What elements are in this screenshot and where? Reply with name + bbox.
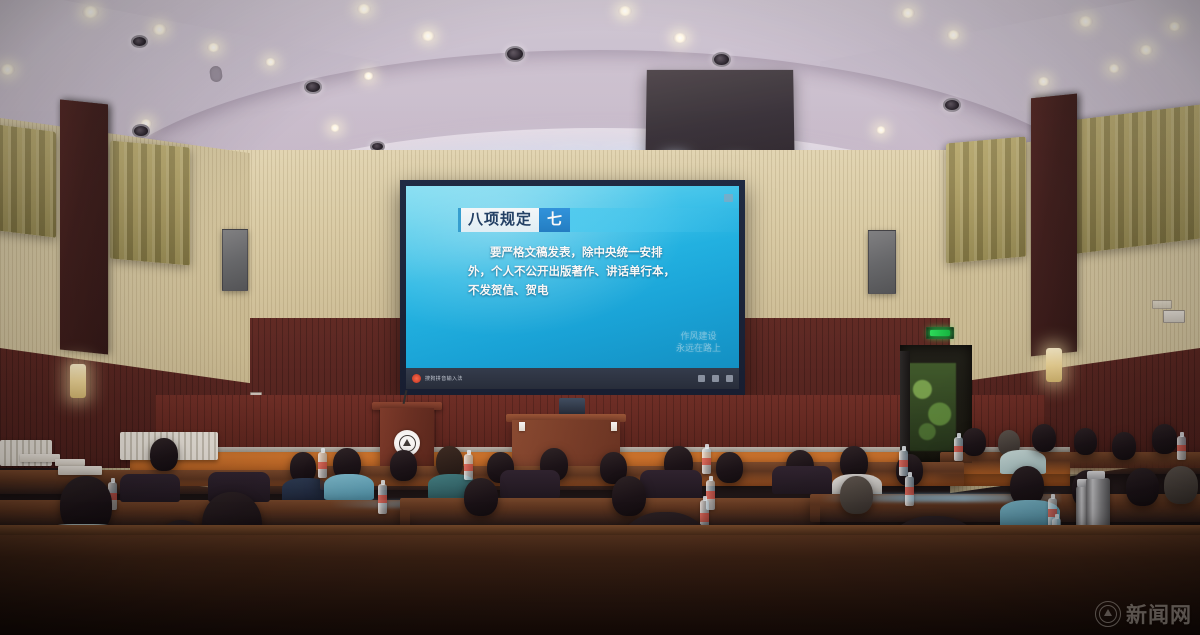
radiator: [0, 440, 52, 466]
audience-head: [390, 450, 417, 481]
bottle-label: [954, 446, 963, 452]
water-bottle: [702, 448, 711, 474]
water-bottle: [954, 437, 963, 461]
desk-papers: [20, 454, 60, 462]
ceiling-downlight: [876, 126, 886, 134]
audience-seat: [772, 466, 832, 494]
bottle-label: [905, 487, 914, 495]
ceiling-downlight: [207, 43, 220, 52]
bottle-label: [378, 495, 387, 503]
stage-place-card: [611, 422, 617, 431]
window-curtain: [1073, 104, 1200, 254]
audience-head: [1152, 424, 1177, 454]
stage-place-card: [519, 422, 525, 431]
lecture-hall-photo: 八项规定 七 要严格文稿发表，除中央统一安排 外，个人不公开出版著作、讲话单行本…: [0, 0, 1200, 635]
ceiling-speaker-icon: [505, 46, 525, 62]
bottle-label: [1177, 445, 1186, 451]
ceiling-downlight: [357, 4, 371, 14]
desk-papers: [55, 459, 85, 466]
ceiling-downlight: [265, 58, 276, 66]
exit-sign: [926, 327, 954, 339]
slide-title: 八项规定: [458, 208, 539, 232]
ceiling-downlight: [363, 72, 374, 80]
ceiling-downlight: [1037, 77, 1050, 86]
bottle-label: [702, 458, 711, 465]
thermos-cap: [1087, 471, 1105, 479]
taskbar-tray[interactable]: [698, 375, 733, 382]
ceiling-downlight: [421, 31, 435, 41]
audience-head: [716, 452, 743, 483]
taskbar-label: 搜狗拼音输入法: [425, 375, 463, 382]
ceiling-downlight: [901, 8, 915, 18]
ceiling-speaker-icon: [304, 80, 322, 94]
screen-corner-badge-icon: [724, 194, 733, 202]
audience-seat: [640, 470, 702, 498]
volume-icon[interactable]: [712, 375, 719, 382]
audience-head: [962, 428, 986, 456]
audience-head: [1032, 424, 1056, 452]
audience-shoulders: [324, 474, 374, 500]
slide-body-text: 要严格文稿发表，除中央统一安排 外，个人不公开出版著作、讲话单行本， 不发贺信、…: [468, 244, 708, 301]
water-bottle: [1177, 436, 1186, 460]
water-bottle: [905, 476, 914, 506]
desk-notebook: [58, 466, 102, 475]
ceiling-downlight: [152, 24, 167, 35]
ceiling-speaker-icon: [943, 98, 961, 112]
audience-head: [840, 476, 873, 514]
ceiling-speaker-icon: [132, 124, 150, 138]
projection-screen[interactable]: 八项规定 七 要严格文稿发表，除中央统一安排 外，个人不公开出版著作、讲话单行本…: [400, 180, 745, 395]
slide-body-line: 不发贺信、贺电: [468, 282, 708, 301]
stage-monitor: [559, 398, 585, 415]
audience-head: [612, 476, 646, 516]
water-bottle: [378, 484, 387, 514]
ceiling-downlight: [330, 124, 340, 132]
ceiling-downlight: [618, 6, 632, 16]
audience-head: [1126, 468, 1159, 506]
emblem-inner-ring: [399, 435, 416, 452]
projected-slide: 八项规定 七 要严格文稿发表，除中央统一安排 外，个人不公开出版著作、讲话单行本…: [406, 186, 739, 368]
ceiling-downlight: [947, 30, 960, 40]
ime-logo-icon[interactable]: [412, 374, 421, 383]
wall-outlet-plate[interactable]: [1163, 310, 1185, 323]
wall-speaker-right: [868, 230, 896, 294]
bottle-label: [706, 491, 715, 499]
window-curtain: [0, 124, 56, 238]
audience-seat: [120, 474, 180, 502]
outdoor-greenery: [908, 363, 956, 451]
ceiling-downlight: [1168, 22, 1181, 31]
slide-title-number: 七: [539, 208, 570, 232]
water-bottle: [318, 452, 327, 478]
desktop-taskbar[interactable]: 搜狗拼音输入法: [406, 368, 739, 389]
ceiling-downlight: [1108, 64, 1120, 73]
wall-column-left: [60, 99, 108, 354]
audience-head: [1112, 432, 1136, 460]
slide-title-row: 八项规定 七: [458, 208, 739, 232]
wall-outlet-plate[interactable]: [1152, 300, 1172, 309]
battery-icon[interactable]: [726, 375, 733, 382]
bottle-label: [899, 460, 908, 467]
window-curtain: [110, 141, 190, 266]
audience-seat: [500, 470, 560, 498]
wall-column-right: [1031, 94, 1077, 357]
ceiling-downlight: [1078, 16, 1093, 27]
ceiling-downlight: [0, 64, 15, 75]
slide-signature-line: 永远在路上: [676, 342, 721, 354]
network-icon[interactable]: [698, 375, 705, 382]
slide-title-tail: [570, 208, 739, 232]
foreground-desk: [0, 535, 1200, 635]
ceiling-downlight: [1139, 45, 1153, 55]
ceiling-speaker-icon: [712, 52, 731, 67]
exit-sign-glow-icon: [930, 330, 950, 336]
slide-signature: 作风建设 永远在路上: [676, 330, 721, 354]
audience-head: [1074, 428, 1097, 455]
audience-head: [150, 438, 178, 471]
bottle-label: [700, 513, 709, 522]
wall-sconce-left: [70, 364, 86, 398]
audience-head: [1164, 466, 1198, 504]
window-curtain: [946, 137, 1026, 264]
audience-head: [464, 478, 498, 516]
slide-body-line: 外，个人不公开出版著作、讲话单行本，: [468, 263, 708, 282]
water-bottle: [899, 450, 908, 476]
ceiling-downlight: [82, 6, 99, 18]
ceiling-downlight: [673, 33, 687, 43]
ceiling-speaker-icon: [131, 35, 148, 48]
slide-body-line: 要严格文稿发表，除中央统一安排: [468, 244, 708, 263]
wall-sconce-right: [1046, 348, 1062, 382]
wall-speaker-left: [222, 229, 248, 291]
bottle-label: [318, 462, 327, 469]
water-bottle: [464, 454, 473, 480]
audience-desk: [400, 498, 820, 526]
bottle-label: [464, 464, 473, 471]
slide-signature-line: 作风建设: [676, 330, 721, 342]
